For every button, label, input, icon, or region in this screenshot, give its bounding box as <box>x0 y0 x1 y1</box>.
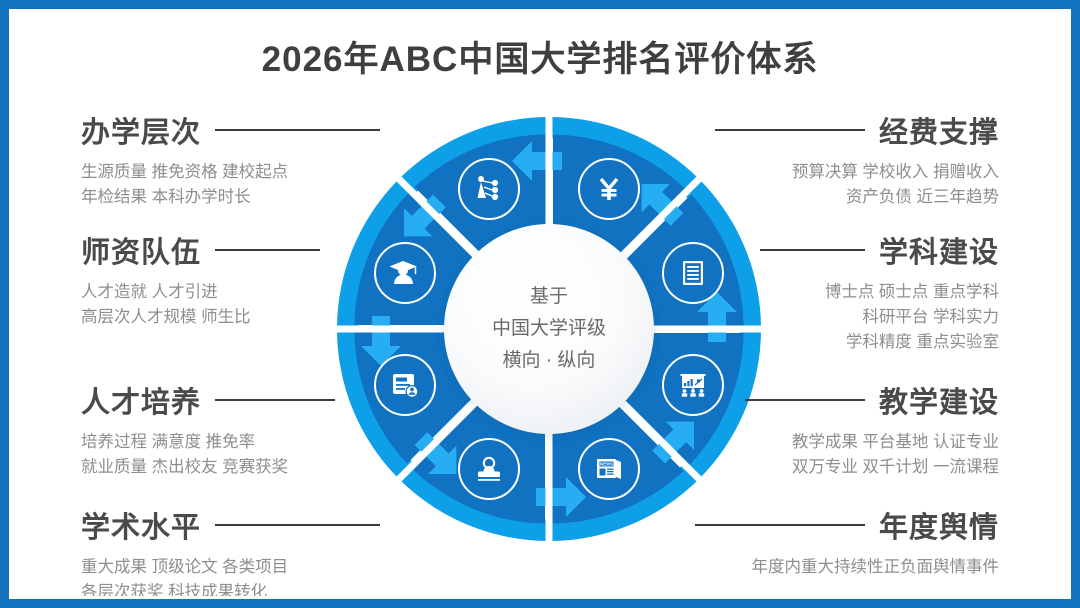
badge-graduate[interactable] <box>374 242 436 304</box>
block-line: 科研平台 学科实力 <box>760 305 999 330</box>
block-title: 教学建设 <box>879 379 999 421</box>
block-line: 预算决算 学校收入 捐赠收入 <box>715 160 999 185</box>
svg-text:NEWS: NEWS <box>600 462 613 467</box>
hub-line-2: 中国大学评级 <box>492 313 606 345</box>
block-banxue-cengci: 办学层次 生源质量 推免资格 建校起点 年检结果 本科办学时长 <box>81 109 380 210</box>
block-header: 经费支撑 <box>715 109 999 151</box>
block-shizi-duiwu: 师资队伍 人才造就 人才引进 高层次人才规模 师生比 <box>81 229 320 330</box>
header-rule <box>215 129 380 131</box>
header-rule <box>215 399 335 401</box>
header-rule <box>215 249 320 251</box>
block-header: 学科建设 <box>760 229 999 271</box>
block-line: 重大成果 顶级论文 各类项目 <box>81 555 380 580</box>
block-header: 师资队伍 <box>81 229 320 271</box>
block-title: 师资队伍 <box>81 229 201 271</box>
block-header: 教学建设 <box>745 379 999 421</box>
block-header: 学术水平 <box>81 504 380 546</box>
block-header: 办学层次 <box>81 109 380 151</box>
block-title: 办学层次 <box>81 109 201 151</box>
graduate-icon <box>390 258 420 288</box>
header-rule <box>760 249 865 251</box>
block-line: 学科精度 重点实验室 <box>760 330 999 355</box>
hierarchy-icon <box>474 174 504 204</box>
block-line: 教学成果 平台基地 认证专业 <box>745 430 999 455</box>
slide-inner: 2026年ABC中国大学排名评价体系 <box>9 9 1071 599</box>
stamp-icon <box>474 454 504 484</box>
header-rule <box>695 524 865 526</box>
block-line: 生源质量 推免资格 建校起点 <box>81 160 380 185</box>
evaluation-wheel: 基于 中国大学评级 横向 · 纵向 <box>329 109 769 549</box>
header-rule <box>715 129 865 131</box>
block-line: 高层次人才规模 师生比 <box>81 305 320 330</box>
certificate-person-icon <box>390 370 420 400</box>
book-icon <box>678 258 708 288</box>
block-header: 人才培养 <box>81 379 335 421</box>
block-line: 双万专业 双千计划 一流课程 <box>745 455 999 480</box>
block-line: 年检结果 本科办学时长 <box>81 185 380 210</box>
block-title: 人才培养 <box>81 379 201 421</box>
block-line: 人才造就 人才引进 <box>81 280 320 305</box>
block-jingfei-zhicheng: 经费支撑 预算决算 学校收入 捐赠收入 资产负债 近三年趋势 <box>715 109 999 210</box>
badge-yen[interactable] <box>578 158 640 220</box>
block-title: 经费支撑 <box>879 109 999 151</box>
block-line: 年度内重大持续性正负面舆情事件 <box>695 555 999 580</box>
block-line: 各层次获奖 科技成果转化 <box>81 580 380 605</box>
block-header: 年度舆情 <box>695 504 999 546</box>
block-line: 博士点 硕士点 重点学科 <box>760 280 999 305</box>
badge-hierarchy[interactable] <box>458 158 520 220</box>
badge-stamp[interactable] <box>458 438 520 500</box>
hub-center: 基于 中国大学评级 横向 · 纵向 <box>444 224 654 434</box>
block-line: 培养过程 满意度 推免率 <box>81 430 335 455</box>
badge-presentation[interactable] <box>662 354 724 416</box>
block-jiaoxue-jianshe: 教学建设 教学成果 平台基地 认证专业 双万专业 双千计划 一流课程 <box>745 379 999 480</box>
block-line: 资产负债 近三年趋势 <box>715 185 999 210</box>
block-niandu-yuqing: 年度舆情 年度内重大持续性正负面舆情事件 <box>695 504 999 580</box>
hub-line-3: 横向 · 纵向 <box>503 345 596 377</box>
block-title: 学术水平 <box>81 504 201 546</box>
yen-icon <box>594 174 624 204</box>
badge-certificate-person[interactable] <box>374 354 436 416</box>
header-rule <box>215 524 380 526</box>
header-rule <box>745 399 865 401</box>
block-title: 年度舆情 <box>879 504 999 546</box>
hub-line-1: 基于 <box>530 281 568 313</box>
presentation-icon <box>678 370 708 400</box>
block-xueshu-shuiping: 学术水平 重大成果 顶级论文 各类项目 各层次获奖 科技成果转化 <box>81 504 380 605</box>
block-rencai-peiyang: 人才培养 培养过程 满意度 推免率 就业质量 杰出校友 竞赛获奖 <box>81 379 335 480</box>
badge-newspaper[interactable]: NEWS <box>578 438 640 500</box>
slide: 2026年ABC中国大学排名评价体系 <box>0 0 1080 608</box>
page-title: 2026年ABC中国大学排名评价体系 <box>9 31 1071 82</box>
newspaper-icon: NEWS <box>594 454 624 484</box>
block-xueke-jianshe: 学科建设 博士点 硕士点 重点学科 科研平台 学科实力 学科精度 重点实验室 <box>760 229 999 355</box>
block-line: 就业质量 杰出校友 竞赛获奖 <box>81 455 335 480</box>
block-title: 学科建设 <box>879 229 999 271</box>
badge-book[interactable] <box>662 242 724 304</box>
